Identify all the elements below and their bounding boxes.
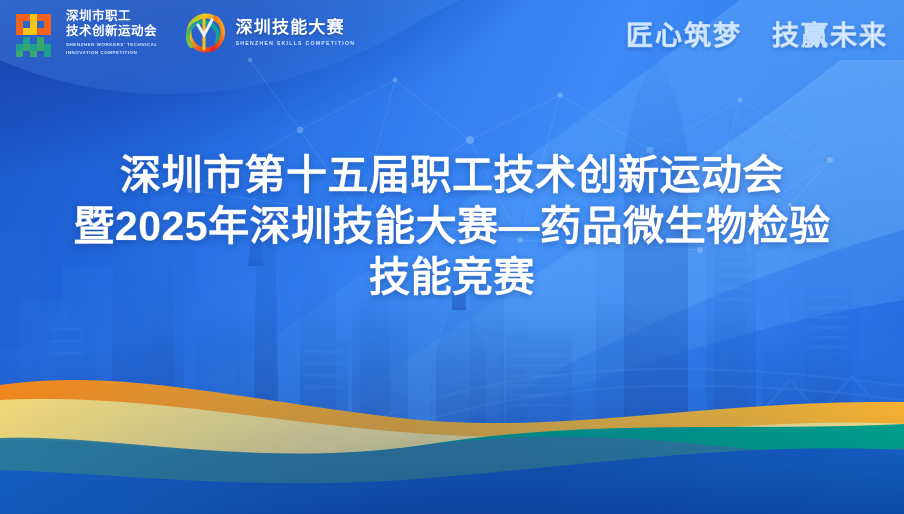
decorative-wave-footer	[0, 0, 904, 514]
poster-banner: 深圳市职工 技术创新运动会 SHENZHEN WORKERS' TECHNICA…	[0, 0, 904, 514]
